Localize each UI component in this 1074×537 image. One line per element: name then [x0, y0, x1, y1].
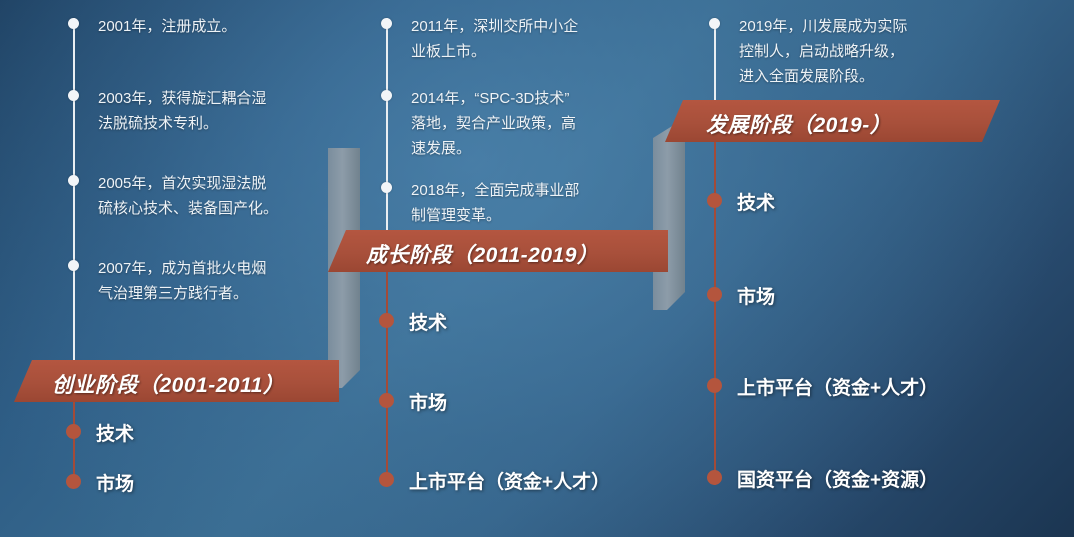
- stage-banner-growth-label: 成长阶段（2011-2019）: [366, 239, 598, 269]
- event-text: 2001年，注册成立。: [98, 14, 338, 39]
- event-text: 2011年，深圳交所中小企 业板上市。: [411, 14, 651, 64]
- event-dot: [68, 175, 79, 186]
- event-text: 2007年，成为首批火电烟 气治理第三方践行者。: [98, 256, 338, 306]
- pillar-label: 市场: [737, 282, 775, 309]
- rail-stage2-pillars: [386, 244, 388, 487]
- timeline-diagram: 2001年，注册成立。 2003年，获得旋汇耦合湿 法脱硫技术专利。 2005年…: [0, 0, 1074, 537]
- event-dot: [68, 18, 79, 29]
- event-dot: [381, 182, 392, 193]
- pillar-label: 上市平台（资金+人才）: [409, 467, 610, 494]
- event-text: 2019年，川发展成为实际 控制人，启动战略升级， 进入全面发展阶段。: [739, 14, 984, 89]
- stage-banner-startup-label: 创业阶段（2001-2011）: [52, 369, 284, 399]
- rail-stage1-events: [73, 18, 75, 373]
- event-text: 2018年，全面完成事业部 制管理变革。: [411, 178, 651, 228]
- pillar-label: 技术: [96, 419, 134, 446]
- pillar-dot: [379, 313, 394, 328]
- riser-stage2-to-stage3: [653, 118, 699, 338]
- rail-stage2-events: [386, 18, 388, 244]
- event-dot: [381, 90, 392, 101]
- rail-stage3-events: [714, 18, 716, 110]
- event-dot: [68, 90, 79, 101]
- event-dot: [381, 18, 392, 29]
- pillar-label: 市场: [409, 388, 447, 415]
- stage-banner-development-label: 发展阶段（2019-）: [706, 109, 891, 139]
- event-dot: [68, 260, 79, 271]
- event-text: 2003年，获得旋汇耦合湿 法脱硫技术专利。: [98, 86, 338, 136]
- event-dot: [709, 18, 720, 29]
- pillar-dot: [707, 470, 722, 485]
- pillar-label: 技术: [409, 308, 447, 335]
- pillar-dot: [66, 474, 81, 489]
- pillar-label: 上市平台（资金+人才）: [737, 373, 938, 400]
- pillar-dot: [66, 424, 81, 439]
- pillar-dot: [707, 287, 722, 302]
- pillar-label: 技术: [737, 188, 775, 215]
- pillar-label: 国资平台（资金+资源）: [737, 465, 938, 492]
- pillar-dot: [707, 193, 722, 208]
- pillar-dot: [379, 472, 394, 487]
- pillar-label: 市场: [96, 469, 134, 496]
- event-text: 2014年，“SPC-3D技术” 落地，契合产业政策，高 速发展。: [411, 86, 656, 161]
- event-text: 2005年，首次实现湿法脱 硫核心技术、装备国产化。: [98, 171, 343, 221]
- pillar-dot: [707, 378, 722, 393]
- pillar-dot: [379, 393, 394, 408]
